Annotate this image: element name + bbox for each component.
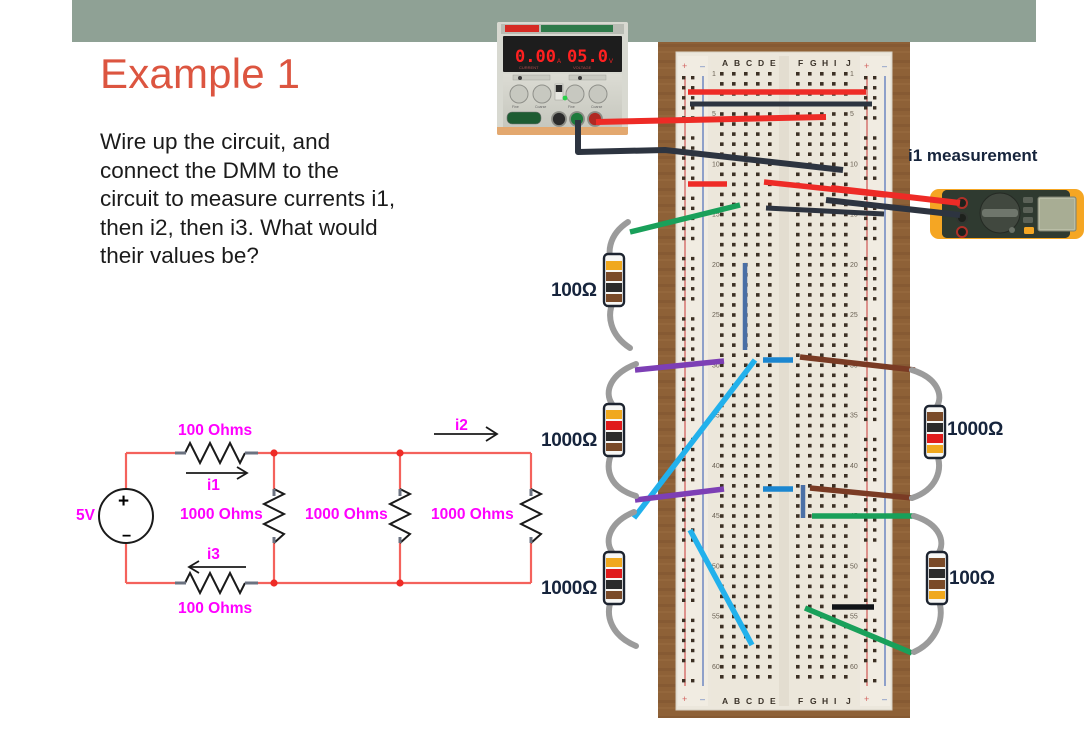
svg-text:J: J bbox=[846, 696, 851, 706]
svg-text:50: 50 bbox=[712, 563, 720, 570]
external-resistor-right-100 bbox=[914, 516, 947, 652]
ps-voltage-value: 05.0 bbox=[567, 47, 608, 67]
resistor-label-right-2: 100Ω bbox=[949, 568, 995, 590]
svg-text:55: 55 bbox=[712, 614, 720, 621]
svg-text:–: – bbox=[882, 61, 887, 71]
svg-text:D: D bbox=[758, 696, 764, 706]
svg-text:I: I bbox=[834, 58, 836, 68]
breadboard-graphic: + – + – + – + – ABCDE FGHIJ ABCDE bbox=[658, 42, 910, 718]
schematic-label-parallel-1: 1000 Ohms bbox=[180, 506, 263, 524]
svg-text:15: 15 bbox=[712, 212, 720, 219]
dmm-graphic bbox=[928, 185, 1086, 243]
svg-text:20: 20 bbox=[850, 262, 858, 269]
breadboard-photo: + – + – + – + – ABCDE FGHIJ ABCDE bbox=[658, 42, 910, 718]
svg-text:45: 45 bbox=[712, 513, 720, 520]
svg-text:1: 1 bbox=[712, 71, 716, 78]
svg-text:G: G bbox=[810, 696, 817, 706]
svg-text:H: H bbox=[822, 58, 828, 68]
schematic-label-source: 5V bbox=[76, 507, 95, 525]
svg-text:40: 40 bbox=[850, 463, 858, 470]
resistor-label-left-1: 100Ω bbox=[551, 280, 597, 302]
svg-text:V: V bbox=[609, 59, 613, 65]
svg-text:20: 20 bbox=[712, 262, 720, 269]
svg-text:+: + bbox=[682, 694, 687, 704]
external-resistor-left-1000-a bbox=[604, 364, 636, 496]
svg-text:E: E bbox=[770, 58, 776, 68]
svg-text:10: 10 bbox=[712, 161, 720, 168]
schematic-label-bottom-resistor: 100 Ohms bbox=[178, 600, 252, 618]
svg-text:I: I bbox=[834, 696, 836, 706]
ps-current-value: 0.00 bbox=[515, 47, 556, 67]
svg-text:G: G bbox=[810, 58, 817, 68]
svg-text:H: H bbox=[822, 696, 828, 706]
svg-text:Fine: Fine bbox=[568, 105, 575, 109]
dmm-caption: i1 measurement bbox=[908, 146, 1037, 166]
svg-text:CURRENT: CURRENT bbox=[519, 65, 539, 70]
external-resistor-left-1000-b bbox=[604, 512, 636, 646]
svg-text:5: 5 bbox=[712, 111, 716, 118]
svg-text:15: 15 bbox=[850, 212, 858, 219]
svg-text:+: + bbox=[864, 61, 869, 71]
svg-text:35: 35 bbox=[712, 413, 720, 420]
power-supply-photo: 0.00 A 05.0 V CURRENT VOLTAGE Fine Coars… bbox=[497, 22, 628, 135]
svg-text:50: 50 bbox=[850, 563, 858, 570]
svg-text:C: C bbox=[746, 58, 752, 68]
svg-text:+: + bbox=[864, 694, 869, 704]
svg-text:40: 40 bbox=[712, 463, 720, 470]
svg-text:J: J bbox=[846, 58, 851, 68]
svg-text:45: 45 bbox=[850, 513, 858, 520]
schematic-label-parallel-2: 1000 Ohms bbox=[305, 506, 388, 524]
resistor-label-left-3: 1000Ω bbox=[541, 578, 597, 600]
power-supply-graphic: 0.00 A 05.0 V CURRENT VOLTAGE Fine Coars… bbox=[497, 22, 628, 135]
slide-body-text: Wire up the circuit, and connect the DMM… bbox=[100, 128, 400, 271]
svg-text:VOLTAGE: VOLTAGE bbox=[573, 65, 592, 70]
current-label-i2: i2 bbox=[455, 417, 468, 435]
svg-text:E: E bbox=[770, 696, 776, 706]
svg-text:–: – bbox=[882, 694, 887, 704]
schematic-label-top-resistor: 100 Ohms bbox=[178, 422, 252, 440]
svg-text:60: 60 bbox=[712, 664, 720, 671]
svg-text:C: C bbox=[746, 696, 752, 706]
slide-canvas: Example 1 Wire up the circuit, and conne… bbox=[0, 0, 1086, 742]
svg-text:30: 30 bbox=[712, 362, 720, 369]
schematic-label-parallel-3: 1000 Ohms bbox=[431, 506, 514, 524]
svg-text:60: 60 bbox=[850, 664, 858, 671]
svg-text:+: + bbox=[682, 61, 687, 71]
svg-text:B: B bbox=[734, 58, 740, 68]
external-resistor-right-1000 bbox=[912, 370, 945, 498]
svg-text:–: – bbox=[700, 694, 705, 704]
svg-text:10: 10 bbox=[850, 161, 858, 168]
svg-text:–: – bbox=[700, 61, 705, 71]
svg-text:1: 1 bbox=[850, 71, 854, 78]
resistor-label-left-2: 1000Ω bbox=[541, 430, 597, 452]
svg-text:A: A bbox=[722, 58, 728, 68]
svg-text:55: 55 bbox=[850, 614, 858, 621]
resistor-label-right-1: 1000Ω bbox=[947, 419, 1003, 441]
current-label-i1: i1 bbox=[207, 477, 220, 495]
svg-text:F: F bbox=[798, 58, 803, 68]
svg-text:A: A bbox=[557, 59, 561, 65]
svg-text:25: 25 bbox=[850, 312, 858, 319]
external-resistor-left-100 bbox=[604, 222, 630, 348]
svg-text:30: 30 bbox=[850, 362, 858, 369]
svg-text:35: 35 bbox=[850, 413, 858, 420]
source-plus-sign: + bbox=[118, 491, 129, 512]
svg-text:5: 5 bbox=[850, 111, 854, 118]
svg-text:Coarse: Coarse bbox=[535, 105, 546, 109]
svg-text:A: A bbox=[722, 696, 728, 706]
svg-text:Fine: Fine bbox=[512, 105, 519, 109]
svg-text:25: 25 bbox=[712, 312, 720, 319]
svg-text:Coarse: Coarse bbox=[591, 105, 602, 109]
current-label-i3: i3 bbox=[207, 546, 220, 564]
svg-text:F: F bbox=[798, 696, 803, 706]
svg-text:B: B bbox=[734, 696, 740, 706]
svg-text:D: D bbox=[758, 58, 764, 68]
page-title: Example 1 bbox=[100, 50, 300, 98]
source-minus-sign: − bbox=[122, 528, 131, 545]
dmm-photo bbox=[928, 185, 1086, 243]
